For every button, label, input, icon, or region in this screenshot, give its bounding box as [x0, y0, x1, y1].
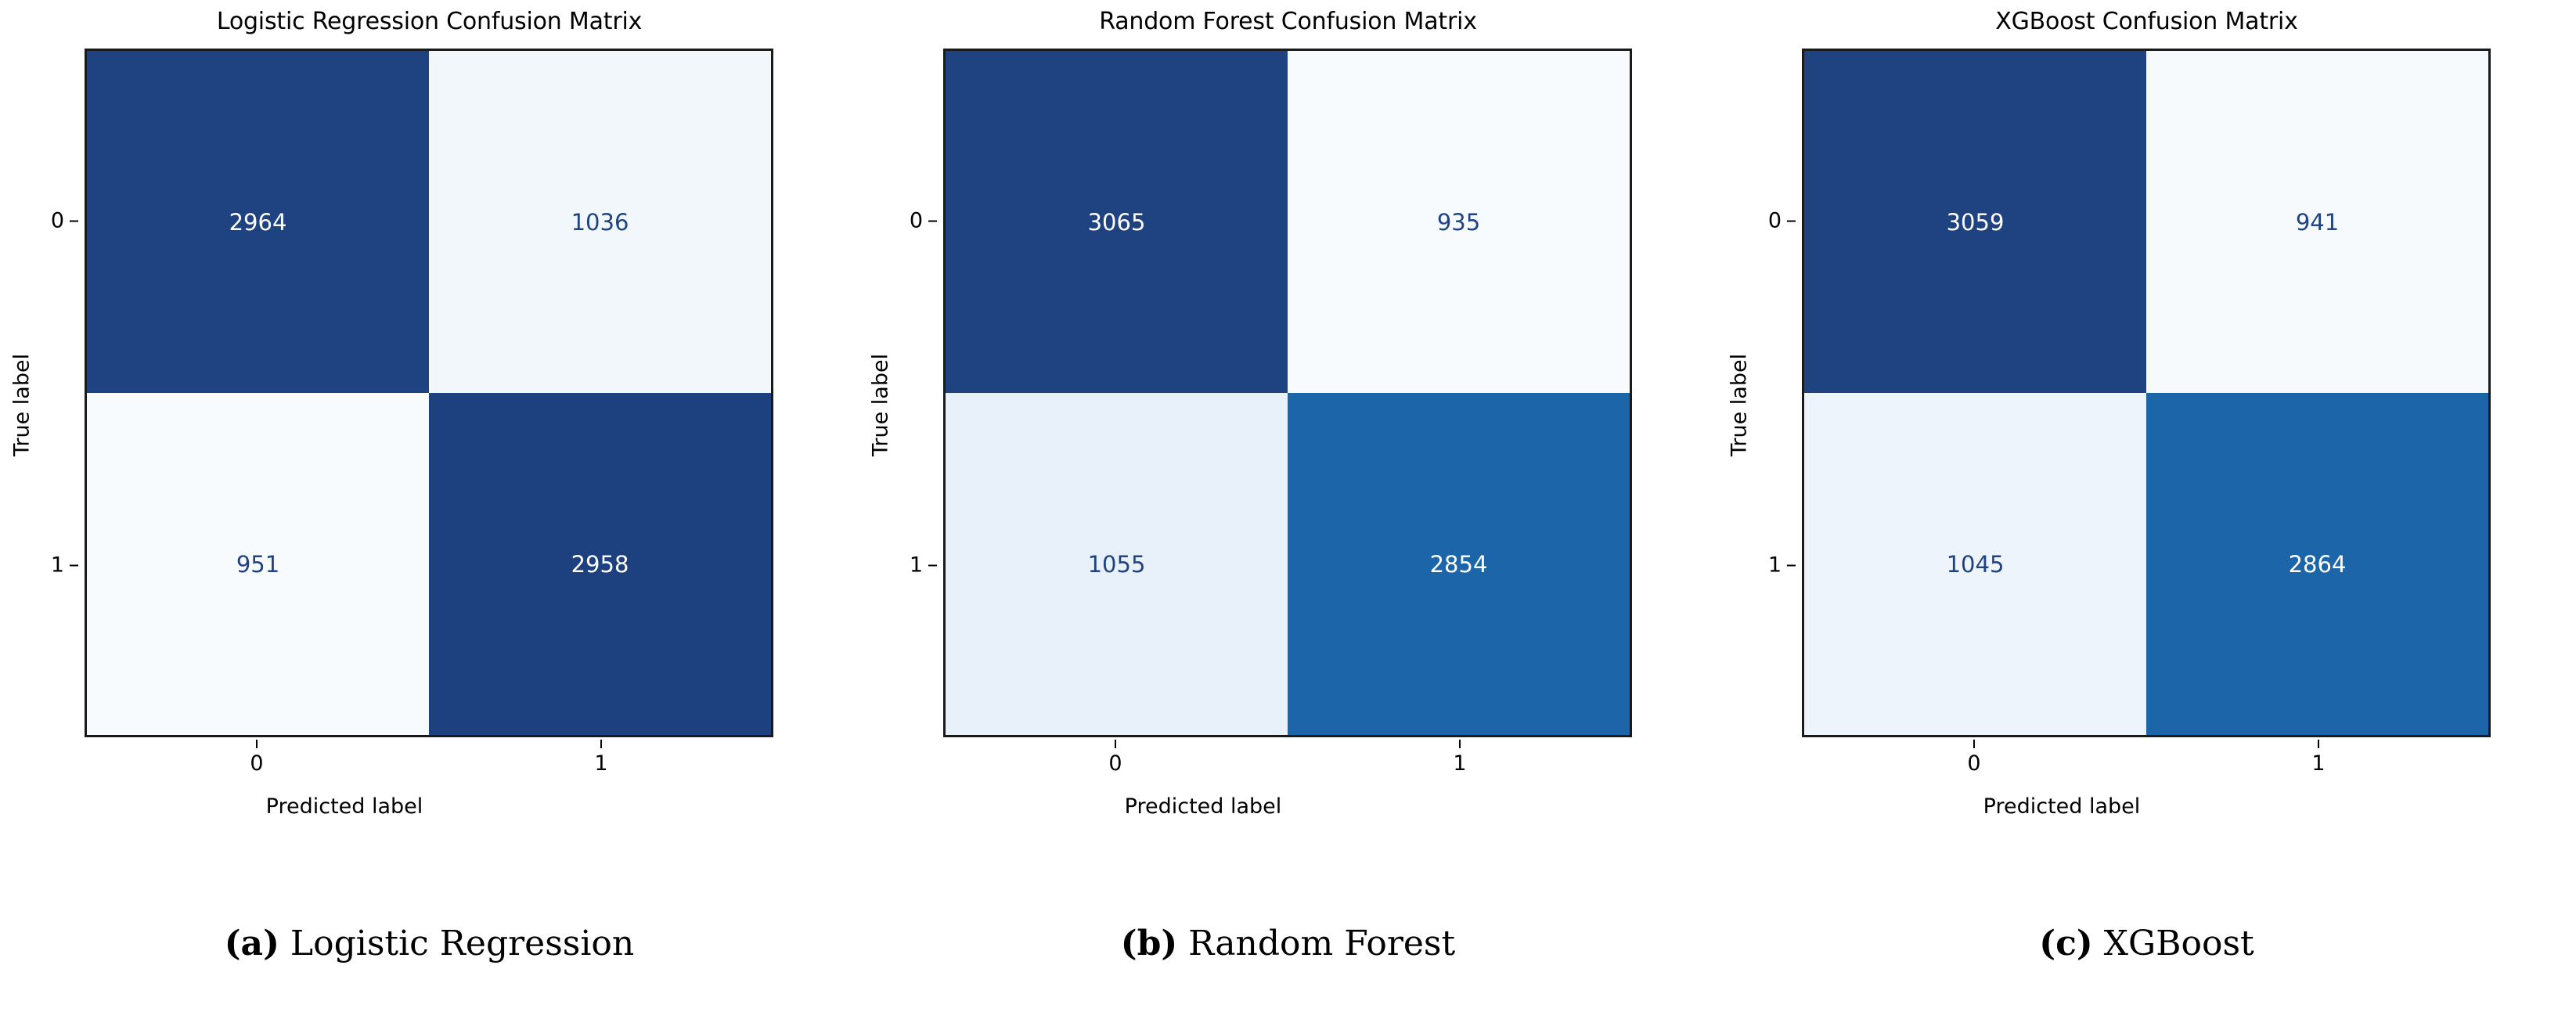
panel-xgboost: XGBoost Confusion Matrix 3059 941 1045 2… [1717, 0, 2576, 1012]
y-tick-label: 0 [1768, 209, 1782, 233]
x-tick-mark [600, 740, 602, 748]
matrix-cell-0-1: 1036 [429, 51, 771, 393]
x-axis-label: Predicted label [1717, 794, 2406, 819]
subfigure-tag: (c) [2039, 924, 2092, 963]
cell-value: 2964 [229, 209, 287, 236]
matrix-cell-0-1: 941 [2146, 51, 2488, 393]
y-tick-0: 0 [1717, 209, 1796, 233]
confusion-matrix-axes: 2964 1036 951 2958 [85, 49, 773, 737]
y-tick-label: 0 [51, 209, 64, 233]
cell-value: 1036 [571, 209, 629, 236]
y-tick-label: 1 [51, 553, 64, 578]
subfigure-caption: (a) Logistic Regression [0, 924, 859, 963]
subfigure-caption: (c) XGBoost [1717, 924, 2576, 963]
y-tick-label: 1 [910, 553, 923, 578]
panel-random-forest: Random Forest Confusion Matrix 3065 935 … [859, 0, 1717, 1012]
matrix-cell-0-1: 935 [1288, 51, 1630, 393]
panel-logistic-regression: Logistic Regression Confusion Matrix 296… [0, 0, 859, 1012]
x-tick-label: 0 [1108, 751, 1122, 776]
panel-title: XGBoost Confusion Matrix [1717, 8, 2576, 35]
matrix-cell-1-1: 2958 [429, 393, 771, 735]
y-tick-label: 1 [1768, 553, 1782, 578]
cell-value: 951 [236, 551, 279, 578]
cell-value: 3065 [1088, 209, 1146, 236]
y-tick-mark [1787, 564, 1796, 566]
matrix-cell-1-1: 2864 [2146, 393, 2488, 735]
x-tick-0: 0 [1084, 740, 1147, 776]
matrix-cell-0-0: 3059 [1804, 51, 2146, 393]
y-tick-mark [1787, 220, 1796, 221]
cell-value: 935 [1437, 209, 1480, 236]
cell-value: 3059 [1947, 209, 2005, 236]
confusion-matrix-figure-row: Logistic Regression Confusion Matrix 296… [0, 0, 2576, 1012]
cell-value: 2854 [1430, 551, 1488, 578]
x-tick-mark [1115, 740, 1116, 748]
panel-title: Logistic Regression Confusion Matrix [0, 8, 859, 35]
subfigure-caption-text: Random Forest [1177, 924, 1455, 963]
subfigure-tag: (b) [1121, 924, 1177, 963]
x-tick-label: 0 [1967, 751, 1980, 776]
y-tick-mark [70, 220, 78, 221]
x-tick-mark [1459, 740, 1461, 748]
x-tick-label: 1 [1453, 751, 1466, 776]
y-axis-label: True label [10, 249, 34, 562]
y-axis-label: True label [869, 249, 893, 562]
y-tick-0: 0 [0, 209, 78, 233]
x-tick-1: 1 [1429, 740, 1491, 776]
x-tick-mark [2318, 740, 2319, 748]
x-axis-label: Predicted label [859, 794, 1547, 819]
x-tick-1: 1 [2287, 740, 2350, 776]
subfigure-caption: (b) Random Forest [859, 924, 1717, 963]
matrix-cell-1-0: 1045 [1804, 393, 2146, 735]
matrix-cell-1-0: 951 [87, 393, 429, 735]
cell-value: 1045 [1947, 551, 2005, 578]
cell-value: 1055 [1088, 551, 1146, 578]
y-tick-mark [70, 564, 78, 566]
x-tick-mark [256, 740, 258, 748]
x-tick-mark [1973, 740, 1975, 748]
matrix-cell-1-1: 2854 [1288, 393, 1630, 735]
subfigure-caption-text: Logistic Regression [279, 924, 634, 963]
confusion-matrix-axes: 3059 941 1045 2864 [1802, 49, 2491, 737]
x-tick-0: 0 [1943, 740, 2005, 776]
subfigure-tag: (a) [225, 924, 279, 963]
matrix-cell-1-0: 1055 [946, 393, 1288, 735]
y-tick-mark [928, 220, 937, 221]
x-tick-0: 0 [225, 740, 288, 776]
cell-value: 2958 [571, 551, 629, 578]
cell-value: 941 [2296, 209, 2339, 236]
matrix-cell-0-0: 2964 [87, 51, 429, 393]
x-tick-1: 1 [570, 740, 632, 776]
y-tick-mark [928, 564, 937, 566]
x-tick-label: 1 [594, 751, 607, 776]
y-tick-0: 0 [859, 209, 937, 233]
x-tick-label: 1 [2311, 751, 2325, 776]
y-tick-label: 0 [910, 209, 923, 233]
y-axis-label: True label [1728, 249, 1752, 562]
x-tick-label: 0 [250, 751, 263, 776]
panel-title: Random Forest Confusion Matrix [859, 8, 1717, 35]
matrix-cell-0-0: 3065 [946, 51, 1288, 393]
confusion-matrix-axes: 3065 935 1055 2854 [943, 49, 1632, 737]
cell-value: 2864 [2289, 551, 2347, 578]
subfigure-caption-text: XGBoost [2093, 924, 2254, 963]
x-axis-label: Predicted label [0, 794, 689, 819]
